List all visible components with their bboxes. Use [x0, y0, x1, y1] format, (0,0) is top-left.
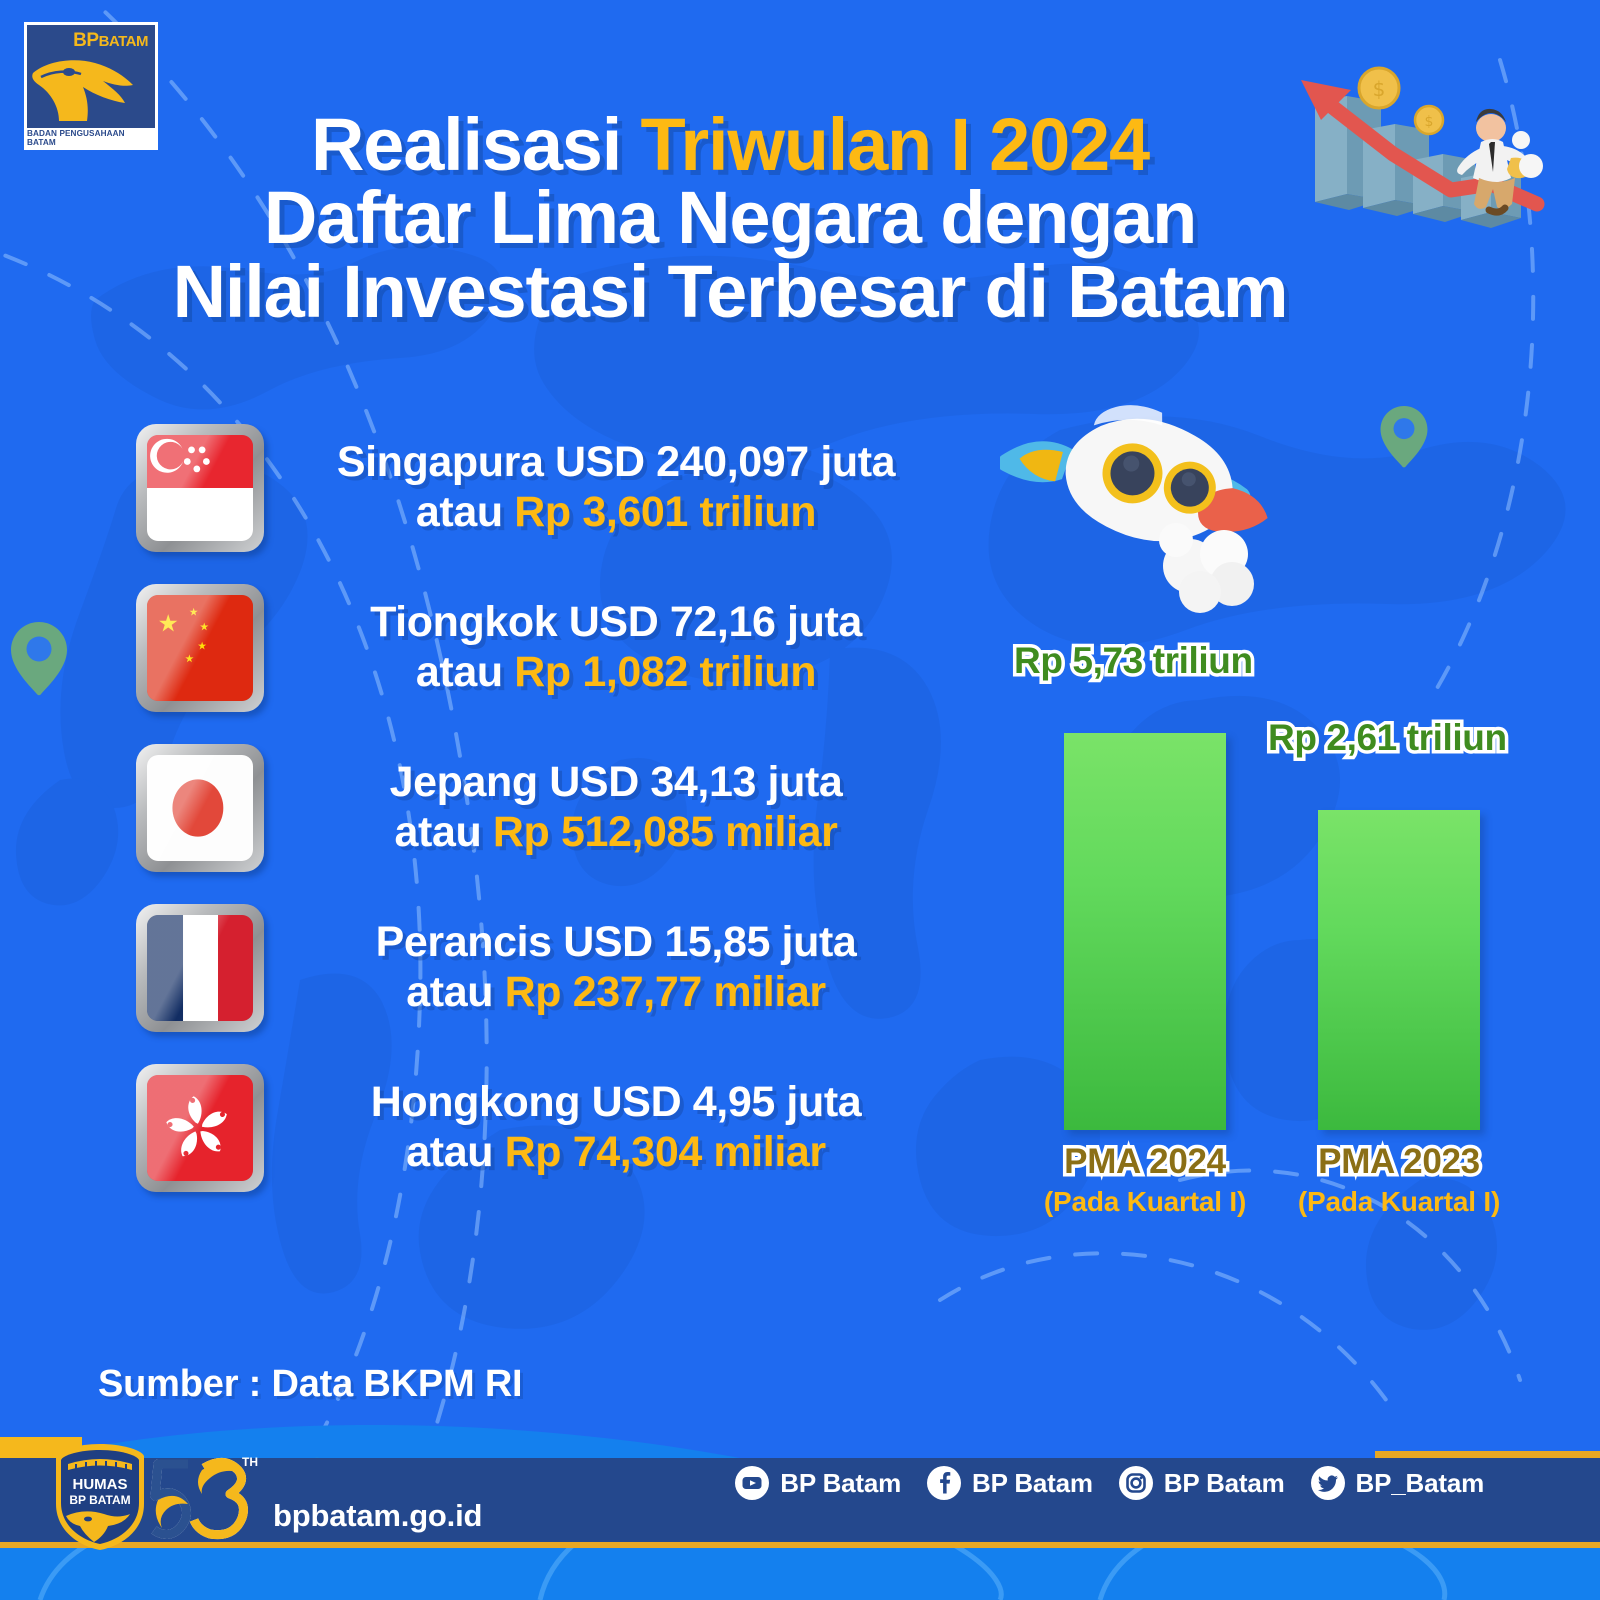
social-link-facebook[interactable]: BP Batam [927, 1466, 1093, 1500]
country-line-usd: Hongkong USD 4,95 juta [280, 1078, 952, 1128]
country-line-idr: Rp 237,77 miliar [505, 968, 826, 1016]
bar-2024 [1064, 733, 1226, 1130]
country-line-usd: Perancis USD 15,85 juta [280, 918, 952, 968]
country-line-usd: Jepang USD 34,13 juta [280, 758, 952, 808]
anniversary-53-logo: TH [142, 1444, 262, 1552]
svg-text:BP BATAM: BP BATAM [69, 1493, 130, 1507]
country-line-prefix: atau [395, 808, 493, 856]
website-url[interactable]: bpbatam.go.id [273, 1498, 482, 1534]
svg-text:HUMAS: HUMAS [73, 1476, 128, 1493]
country-line-idr: Rp 74,304 miliar [505, 1128, 826, 1176]
singapore-flag-icon [136, 424, 264, 552]
humas-bp-batam-shield-logo: HUMAS BP BATAM [52, 1442, 148, 1552]
social-links: BP Batam BP Batam BP Batam BP_Batam [735, 1466, 1484, 1500]
bar-value-label-2024: Rp 5,73 triliun [1014, 640, 1253, 682]
social-link-instagram[interactable]: BP Batam [1119, 1466, 1285, 1500]
country-line-idr: Rp 3,601 triliun [514, 488, 816, 536]
country-line-idr: Rp 1,082 triliun [514, 648, 816, 696]
china-flag-icon [136, 584, 264, 712]
bar-caption-2023: PMA 2023 (Pada Kuartal I) [1269, 1142, 1529, 1218]
list-item: Hongkong USD 4,95 juta atau Rp 74,304 mi… [120, 1048, 960, 1208]
country-line-usd: Tiongkok USD 72,16 juta [280, 598, 952, 648]
title-line3: Nilai Investasi Terbesar di Batam [0, 255, 1460, 328]
rocket-illustration [1000, 388, 1270, 613]
svg-text:$: $ [1373, 77, 1386, 101]
list-item: Tiongkok USD 72,16 juta atau Rp 1,082 tr… [120, 568, 960, 728]
social-label: BP Batam [1164, 1468, 1285, 1499]
map-pin-icon [1378, 404, 1430, 470]
pma-bar-chart: Rp 5,73 triliun PMA 2024 (Pada Kuartal I… [980, 620, 1560, 1100]
twitter-icon [1311, 1466, 1345, 1500]
page-title: Realisasi Triwulan I 2024 Daftar Lima Ne… [0, 108, 1460, 328]
social-link-youtube[interactable]: BP Batam [735, 1466, 901, 1500]
title-line1-plain: Realisasi [311, 103, 640, 186]
source-text: Sumber : Data BKPM RI [98, 1363, 522, 1406]
smoke-cloud-icon [1159, 523, 1254, 613]
instagram-icon [1119, 1466, 1153, 1500]
bar-caption-2024: PMA 2024 (Pada Kuartal I) [1015, 1142, 1275, 1218]
japan-flag-icon [136, 744, 264, 872]
title-line2: Daftar Lima Negara dengan [0, 181, 1460, 254]
bar-value-label-2023: Rp 2,61 triliun [1268, 717, 1507, 759]
footer-gold-rule-top [1375, 1451, 1600, 1458]
country-line-prefix: atau [416, 648, 514, 696]
country-investment-list: Singapura USD 240,097 juta atau Rp 3,601… [120, 408, 960, 1208]
social-label: BP_Batam [1356, 1468, 1484, 1499]
country-line-usd: Singapura USD 240,097 juta [280, 438, 952, 488]
country-line-idr: Rp 512,085 miliar [493, 808, 838, 856]
france-flag-icon [136, 904, 264, 1032]
infographic-poster: BPBATAM BADAN PENGUSAHAAN BATAM [0, 0, 1600, 1600]
country-line-prefix: atau [406, 1128, 504, 1176]
youtube-icon [735, 1466, 769, 1500]
title-line1-accent: Triwulan I 2024 [641, 103, 1149, 186]
list-item: Perancis USD 15,85 juta atau Rp 237,77 m… [120, 888, 960, 1048]
facebook-icon [927, 1466, 961, 1500]
hongkong-flag-icon [136, 1064, 264, 1192]
list-item: Jepang USD 34,13 juta atau Rp 512,085 mi… [120, 728, 960, 888]
list-item: Singapura USD 240,097 juta atau Rp 3,601… [120, 408, 960, 568]
social-label: BP Batam [972, 1468, 1093, 1499]
country-line-prefix: atau [416, 488, 514, 536]
social-label: BP Batam [780, 1468, 901, 1499]
social-link-twitter[interactable]: BP_Batam [1311, 1466, 1484, 1500]
logo-wordmark: BPBATAM [73, 31, 148, 50]
map-pin-icon [8, 620, 70, 698]
bar-2023 [1318, 810, 1480, 1130]
country-line-prefix: atau [406, 968, 504, 1016]
anniversary-suffix: TH [242, 1455, 258, 1469]
